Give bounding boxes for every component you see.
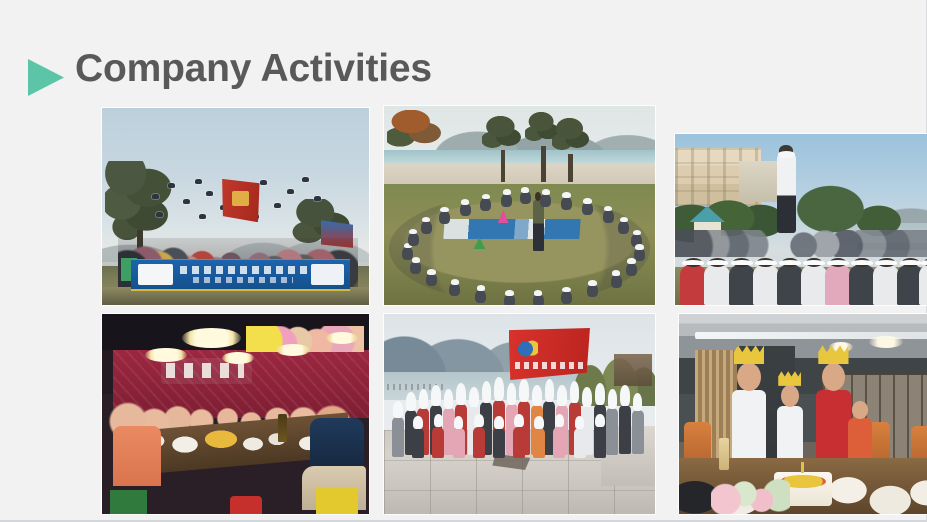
hanging-lamp (182, 328, 241, 348)
gallery-photo-6[interactable]: Indoor birthday celebration: family memb… (679, 314, 927, 514)
company-flag (509, 328, 590, 380)
tossed-cap (152, 194, 159, 199)
participant-front-row (513, 427, 525, 458)
triangle-right-icon (28, 59, 64, 96)
participant (680, 265, 706, 305)
participant-front-row (553, 427, 565, 458)
participant-front-row (493, 428, 505, 458)
group-photo-participants (392, 390, 644, 458)
hanging-lamp (145, 348, 188, 362)
tossed-cap (287, 189, 294, 194)
tossed-cap (274, 203, 281, 208)
participant (603, 210, 614, 223)
participant (520, 191, 531, 204)
tree-autumn (387, 110, 441, 162)
tossed-cap (195, 179, 202, 184)
participant-circle (389, 194, 649, 303)
celebrant-adult (732, 390, 766, 462)
dishes-on-table (137, 426, 337, 456)
tossed-cap (260, 180, 267, 185)
gallery-photo-3[interactable]: Outdoor team game where a colleague in a… (675, 134, 927, 305)
gallery-photo-4[interactable]: Colleagues sharing dinner around a long … (102, 314, 369, 514)
participant (460, 203, 471, 216)
participant (410, 261, 421, 274)
tree-trunk (541, 146, 545, 182)
participant (704, 265, 730, 305)
chair-green (110, 490, 147, 514)
participant (801, 265, 827, 305)
slide-title-row: Company Activities (28, 40, 432, 96)
banner-text-line-1 (180, 266, 307, 274)
participant-front-row (473, 427, 485, 458)
participant (501, 194, 512, 207)
tree-trunk (501, 150, 505, 182)
participant-front-row (453, 428, 465, 458)
lifted-participant (777, 155, 796, 234)
photo-3-scene (675, 134, 927, 305)
participant (618, 221, 629, 234)
participant-front-row (594, 427, 606, 458)
photo-6-scene (679, 314, 927, 514)
gallery-photo-1[interactable]: Large group of employees on a grassy hil… (102, 108, 369, 305)
participant (606, 408, 618, 456)
tossed-cap (199, 214, 206, 219)
slide: Company Activities (0, 0, 927, 522)
participant (873, 265, 899, 305)
participant (402, 247, 413, 260)
participant (626, 263, 637, 276)
participant (777, 265, 803, 305)
page-title: Company Activities (75, 49, 432, 88)
photo-2-scene (384, 106, 655, 305)
participant (561, 197, 572, 210)
flag-text (515, 362, 583, 368)
participant-front-row (412, 428, 424, 458)
participant (587, 284, 598, 297)
diner-navy-shirt (310, 418, 363, 470)
participant (540, 194, 551, 207)
participant (619, 405, 631, 454)
celebrant-red-dress (816, 390, 850, 462)
foreground-participants (675, 233, 927, 305)
chair-yellow (316, 488, 359, 514)
participant (480, 198, 491, 211)
participant (561, 291, 572, 304)
chair-red (230, 496, 262, 514)
participant (533, 294, 544, 305)
beer-bottle (278, 414, 287, 442)
pavilion (614, 354, 652, 386)
gallery-photo-2[interactable]: Team-building session: employees in whit… (384, 106, 655, 305)
participant (919, 265, 927, 305)
diner-orange-shirt (113, 426, 161, 486)
tree-trunk (568, 154, 572, 182)
participant (753, 265, 779, 305)
hanging-lamp (276, 344, 311, 356)
photo-4-scene (102, 314, 369, 514)
flower-arrangement (711, 478, 790, 514)
event-banner (131, 259, 350, 292)
participant (421, 221, 432, 234)
participant (825, 265, 851, 305)
participant-front-row (533, 428, 545, 458)
celebrant-toddler (848, 418, 872, 462)
participant (408, 233, 419, 246)
participant-front-row (574, 428, 586, 458)
tossed-cap (168, 183, 175, 188)
celebrant-child (777, 406, 803, 462)
participant (392, 417, 404, 456)
participant-front-row (432, 427, 444, 458)
participant (426, 273, 437, 286)
tossed-cap (156, 212, 163, 217)
participant (475, 290, 486, 303)
participant (632, 410, 644, 454)
participant (504, 294, 515, 305)
tossed-cap (183, 199, 190, 204)
participant (729, 265, 755, 305)
participant (439, 211, 450, 224)
company-logo (517, 338, 538, 360)
photo-1-scene (102, 108, 369, 305)
participant (849, 265, 875, 305)
banner-text-line-2 (193, 277, 294, 283)
tossed-cap (206, 191, 213, 196)
hanging-lamp (222, 352, 254, 364)
red-flag (222, 179, 259, 222)
participant (449, 283, 460, 296)
drink-bottle (719, 438, 730, 470)
gallery-photo-5[interactable]: Company group photo on a lakeside stone … (384, 314, 655, 514)
photo-5-scene (384, 314, 655, 514)
tossed-cap (302, 177, 309, 182)
participant (611, 275, 622, 288)
participant (582, 202, 593, 215)
tossed-cap (314, 196, 321, 201)
